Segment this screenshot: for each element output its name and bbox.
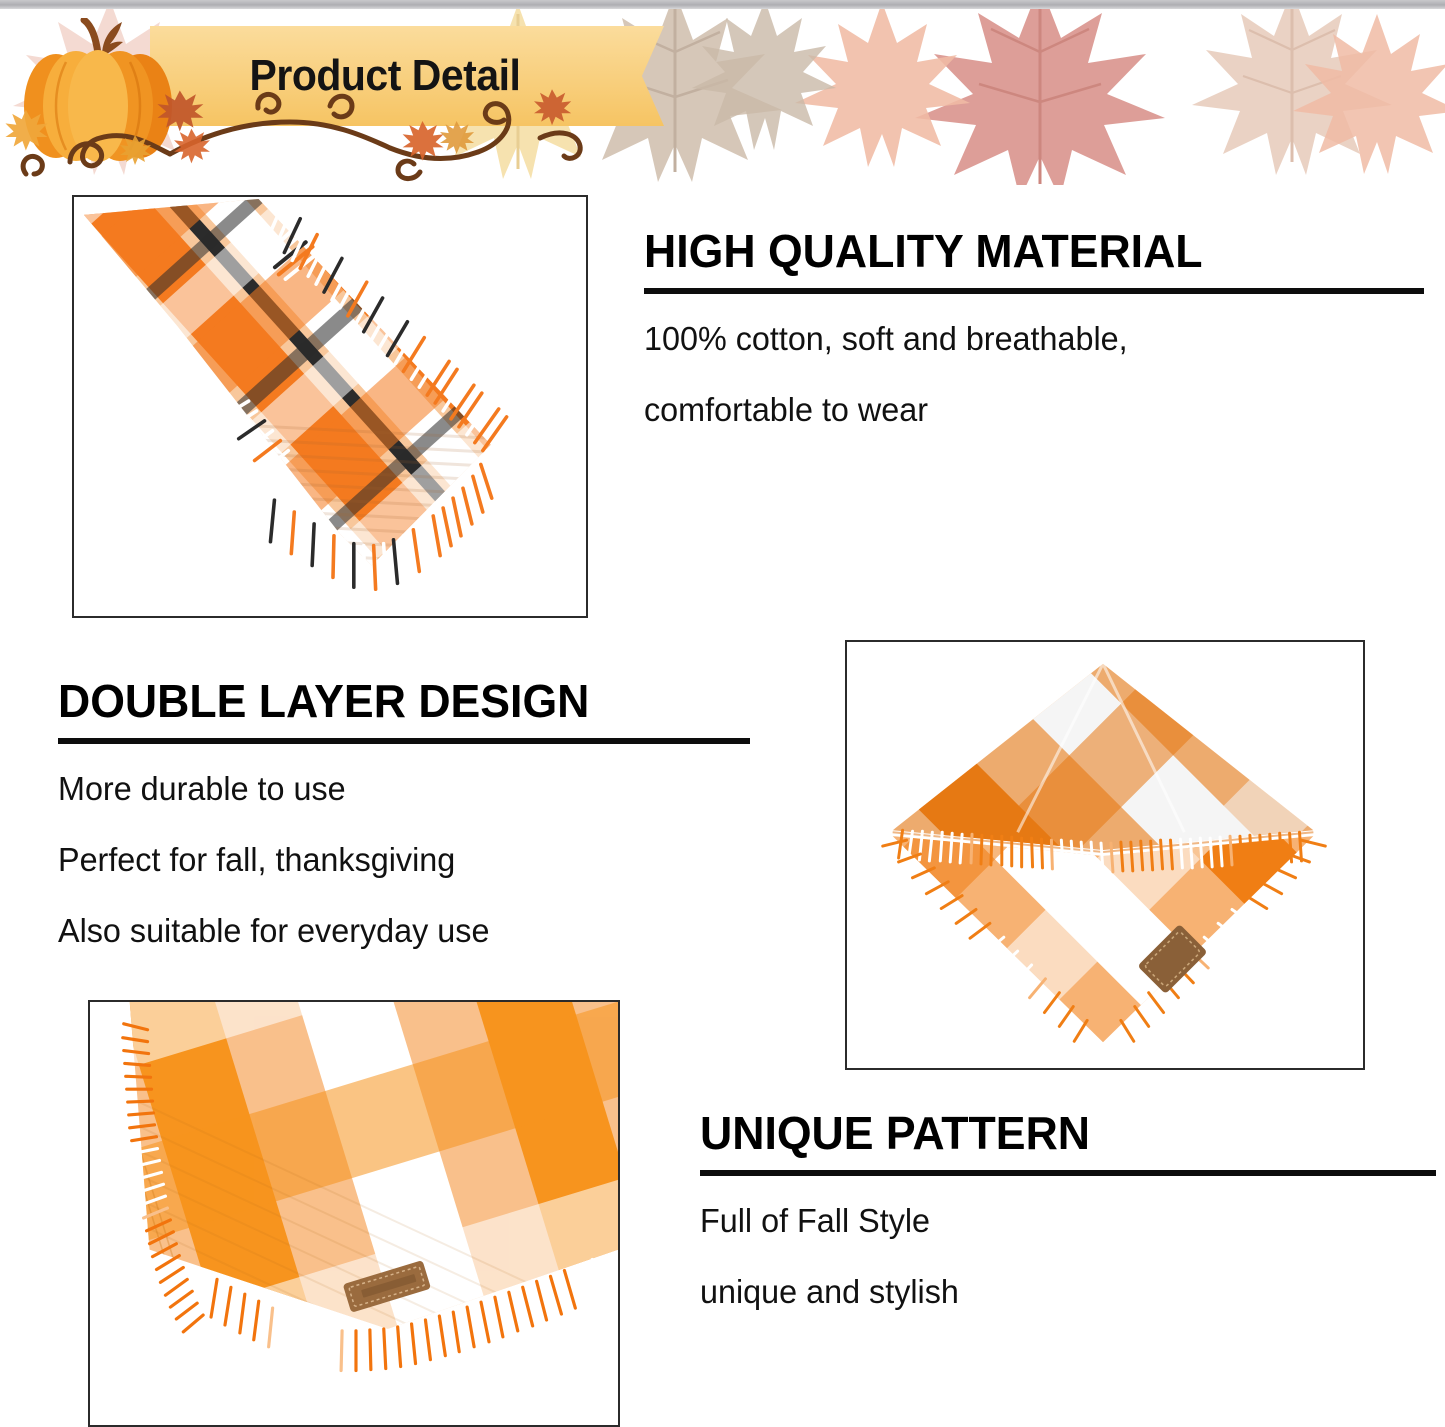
feature-heading-material: HIGH QUALITY MATERIAL xyxy=(644,228,1410,274)
maple-leaf-icon xyxy=(690,0,840,150)
feature-rule-pattern xyxy=(700,1170,1436,1176)
vine-swirl-icon xyxy=(0,88,620,185)
feature-body-double-layer: More durable to use Perfect for fall, th… xyxy=(58,772,758,947)
product-photo-bandana-folded xyxy=(845,640,1365,1070)
feature-line: Also suitable for everyday use xyxy=(58,914,744,947)
feature-body-material: 100% cotton, soft and breathable, comfor… xyxy=(644,322,1434,426)
feature-heading-pattern: UNIQUE PATTERN xyxy=(700,1110,1418,1156)
feature-block-material: HIGH QUALITY MATERIAL 100% cotton, soft … xyxy=(644,228,1434,426)
feature-line: Full of Fall Style xyxy=(700,1204,1425,1237)
feature-rule-material xyxy=(644,288,1424,294)
feature-line: 100% cotton, soft and breathable, xyxy=(644,322,1418,355)
feature-body-pattern: Full of Fall Style unique and stylish xyxy=(700,1204,1440,1308)
product-photo-scarf-detail xyxy=(72,195,588,618)
feature-line: unique and stylish xyxy=(700,1275,1425,1308)
feature-heading-double-layer: DOUBLE LAYER DESIGN xyxy=(58,678,737,724)
feature-block-double-layer: DOUBLE LAYER DESIGN More durable to use … xyxy=(58,678,758,947)
feature-line: Perfect for fall, thanksgiving xyxy=(58,843,744,876)
product-photo-bandana-flat xyxy=(88,1000,620,1427)
product-detail-page: Product Detail xyxy=(0,0,1445,1427)
page-header-banner: Product Detail xyxy=(0,0,1445,185)
feature-line: comfortable to wear xyxy=(644,393,1418,426)
feature-rule-double-layer xyxy=(58,738,750,744)
top-gray-bar xyxy=(0,0,1445,9)
feature-block-pattern: UNIQUE PATTERN Full of Fall Style unique… xyxy=(700,1110,1440,1308)
maple-leaf-icon xyxy=(1290,14,1445,174)
feature-line: More durable to use xyxy=(58,772,744,805)
